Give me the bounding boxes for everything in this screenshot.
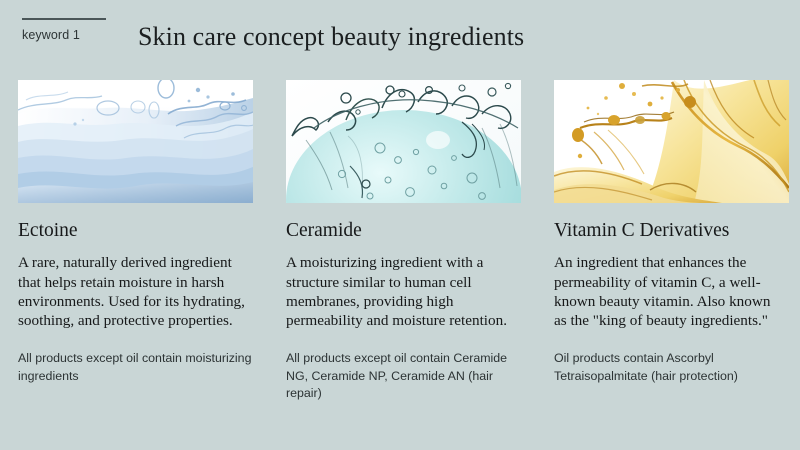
card-body: A rare, naturally derived ingredient tha… <box>18 253 250 330</box>
card-note: All products except oil contain moisturi… <box>18 350 254 385</box>
keyword-block: keyword 1 <box>22 18 127 43</box>
card-columns: Ectoine A rare, naturally derived ingred… <box>0 80 800 450</box>
card-title: Vitamin C Derivatives <box>554 220 789 241</box>
water-splash-photo <box>18 80 253 203</box>
card-title: Ceramide <box>286 220 521 241</box>
card-ectoine: Ectoine A rare, naturally derived ingred… <box>18 80 253 385</box>
aqua-droplet-photo <box>286 80 521 203</box>
card-note: Oil products contain Ascorbyl Tetraisopa… <box>554 350 790 385</box>
keyword-label: keyword 1 <box>22 29 127 43</box>
card-body: An ingredient that enhances the permeabi… <box>554 253 786 330</box>
card-vitamin-c: Vitamin C Derivatives An ingredient that… <box>554 80 789 385</box>
card-ceramide: Ceramide A moisturizing ingredient with … <box>286 80 521 403</box>
keyword-divider <box>22 18 106 20</box>
card-title: Ectoine <box>18 220 253 241</box>
card-note: All products except oil contain Ceramide… <box>286 350 522 403</box>
slide-canvas: keyword 1 Skin care concept beauty ingre… <box>0 0 800 450</box>
card-body: A moisturizing ingredient with a structu… <box>286 253 518 330</box>
golden-oil-photo <box>554 80 789 203</box>
page-title: Skin care concept beauty ingredients <box>138 22 524 52</box>
